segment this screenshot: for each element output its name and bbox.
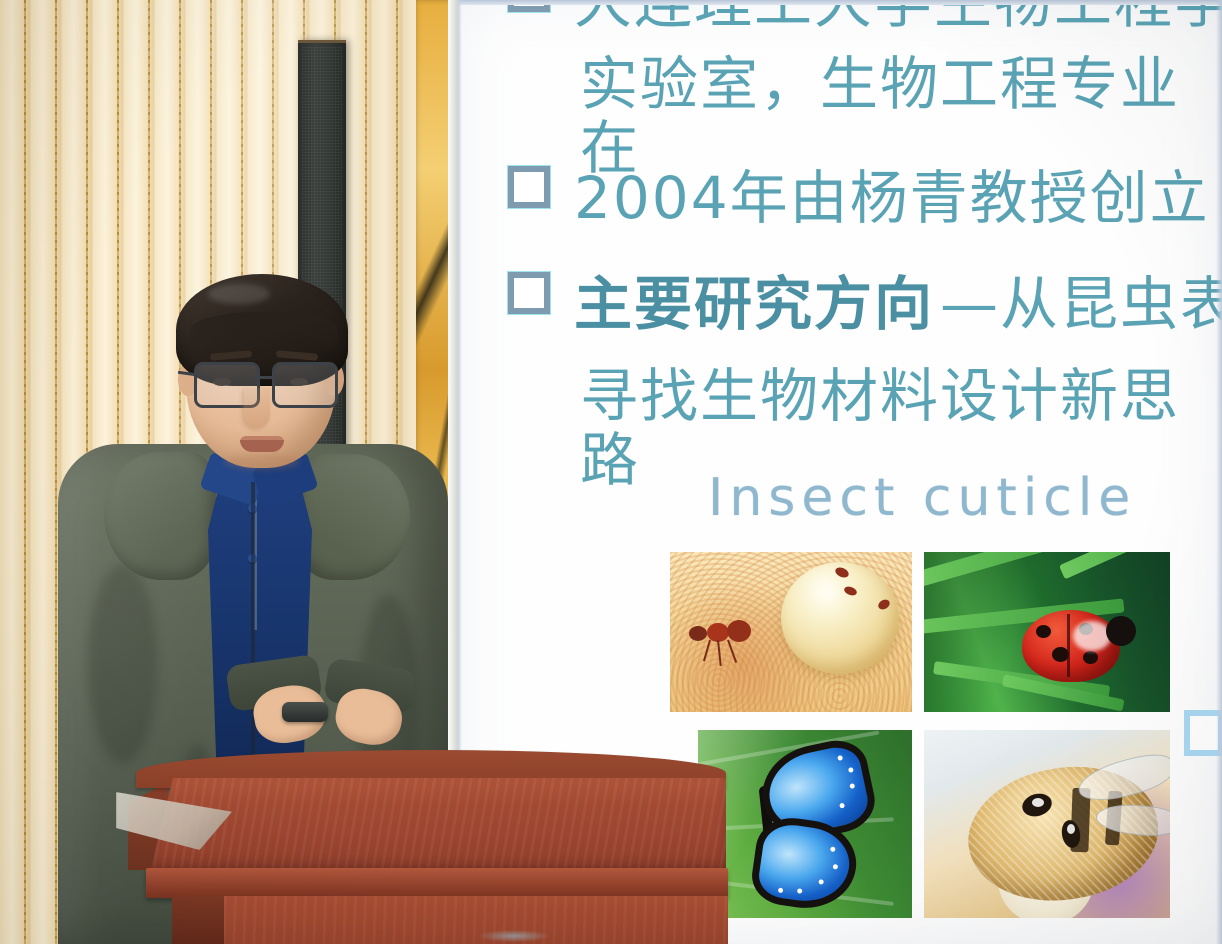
slide-line-1-continuation: 实验室，生物工程专业在: [580, 52, 1222, 180]
eyeglass-bridge: [254, 376, 272, 379]
slide-image-honeybee-closeup: [924, 730, 1170, 918]
slide-line-2-text: 2004年由杨青教授创立: [574, 166, 1210, 230]
slide-line-1b-text: 实验室，生物工程专业在: [580, 50, 1180, 182]
presentation-photo: 大连理工大学生物工程学 实验室，生物工程专业在 2004年由杨青教授创立 主要研…: [0, 0, 1222, 944]
square-bullet-icon: [508, 272, 550, 314]
eyeglass-lens-right: [272, 362, 338, 408]
slide-image-blue-morpho-butterfly: [698, 730, 912, 918]
mouth: [240, 440, 284, 452]
ladybug-head: [1106, 616, 1136, 646]
podium-front-face: [150, 778, 726, 872]
jacket-hood-left: [104, 452, 216, 580]
water-droplet: [781, 562, 899, 674]
square-bullet-icon: [508, 166, 550, 208]
slide-image-ant-water-droplet: [670, 552, 912, 712]
ladybug: [1022, 610, 1120, 682]
hair-highlight: [208, 284, 270, 304]
nose: [244, 388, 270, 428]
slide-bullet-line-3: 主要研究方向 —从昆虫表: [508, 272, 1222, 336]
chin-shadow: [224, 454, 300, 470]
wooden-podium: [128, 750, 728, 944]
presentation-clicker: [282, 702, 328, 722]
slide-line-3-text: —从昆虫表: [940, 272, 1222, 336]
slide-section-title: Insect cuticle: [708, 468, 1136, 528]
slide-image-grid: [670, 552, 1170, 918]
slide-image-ladybug-leaf: [924, 552, 1170, 712]
slide-bullet-line-2: 2004年由杨青教授创立: [508, 166, 1210, 230]
podium-body: [224, 896, 728, 944]
slide-line-1-text: 大连理工大学生物工程学: [574, 0, 1222, 34]
floor-reflection: [478, 930, 550, 942]
ant: [687, 616, 753, 658]
slide-bullet-line-1: 大连理工大学生物工程学: [508, 0, 1222, 34]
podium-body-left: [172, 896, 228, 944]
screen-right-edge: [1216, 0, 1222, 944]
slide-line-3-bold-text: 主要研究方向: [574, 272, 934, 336]
screen-top-edge: [458, 0, 1222, 5]
podium-lip: [146, 868, 728, 898]
